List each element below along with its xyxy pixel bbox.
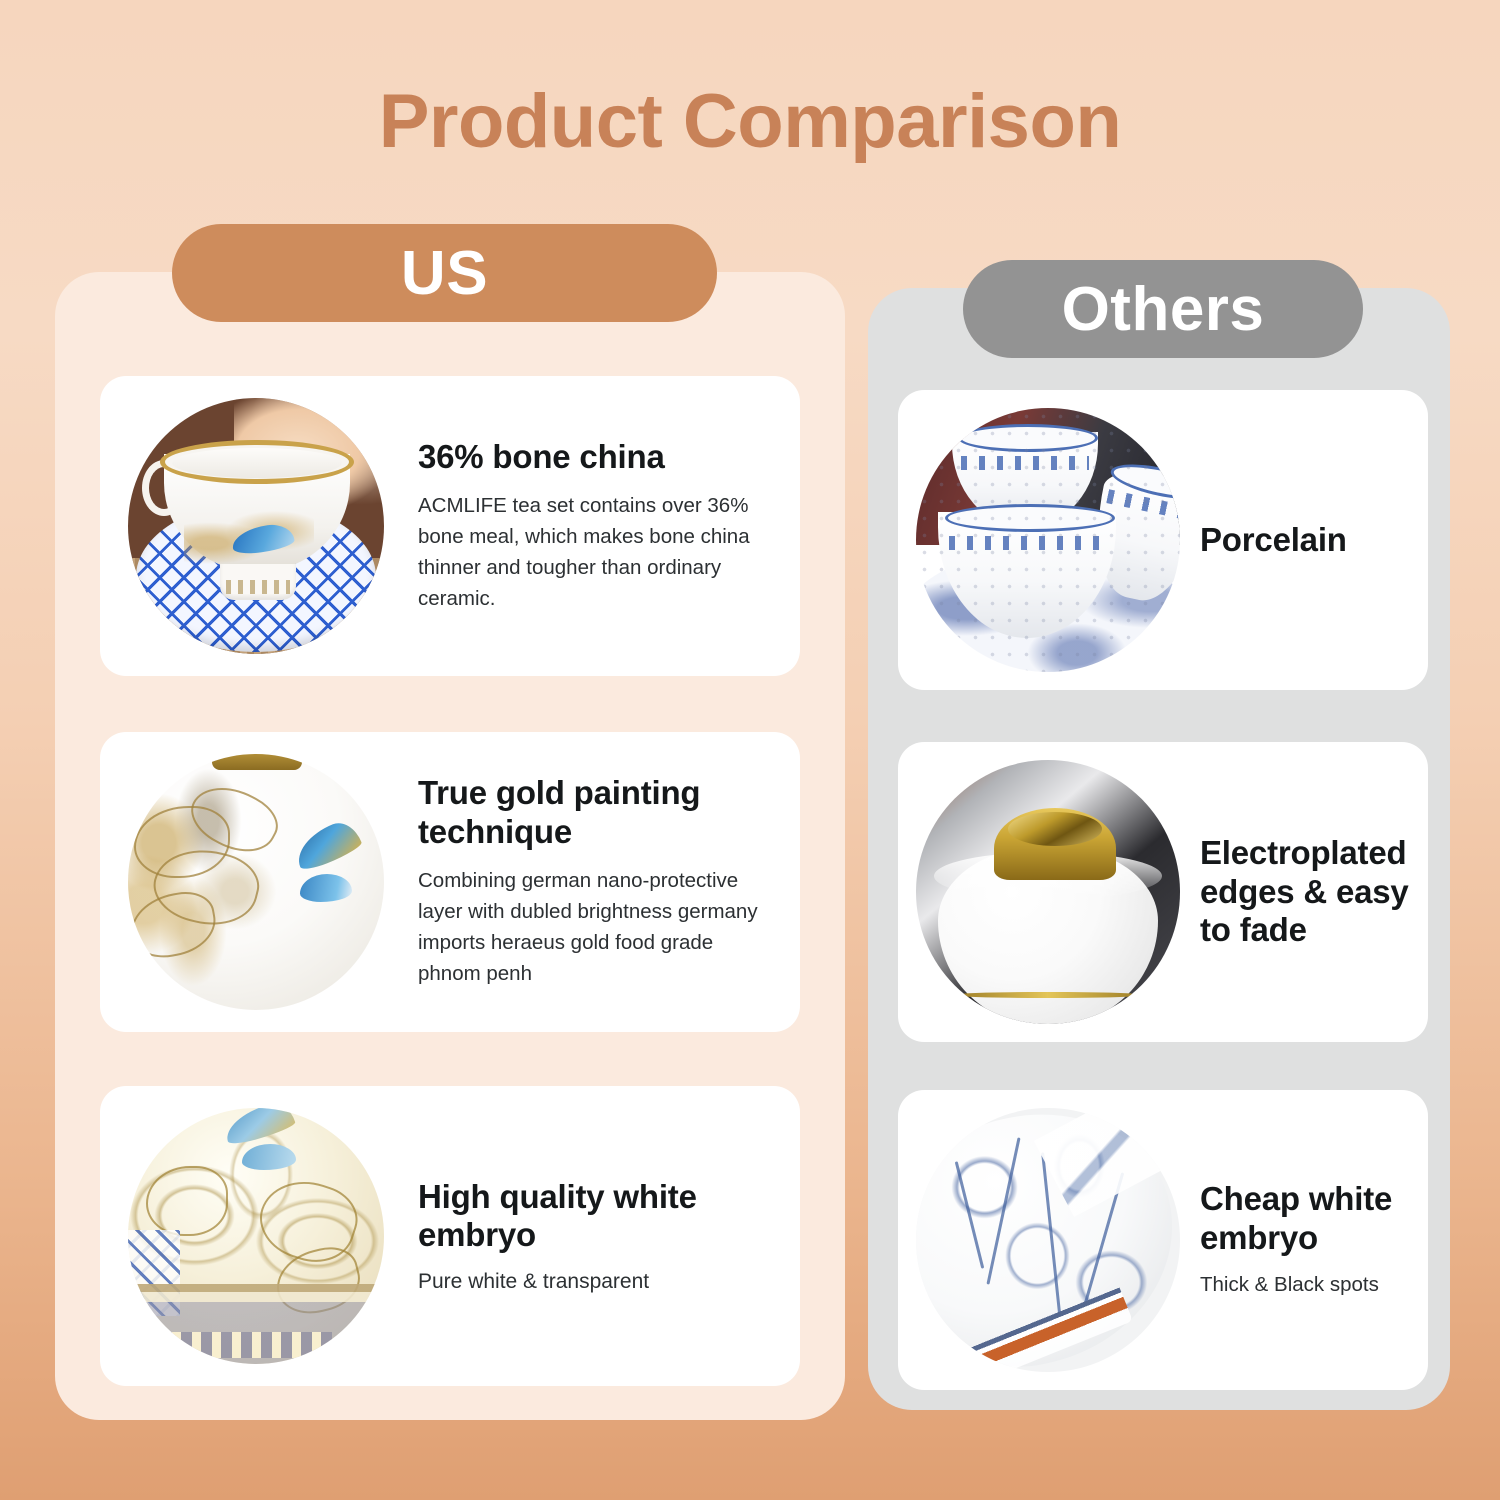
- others-feature-card: Porcelain: [898, 390, 1428, 690]
- white-embryo-cup-photo: [128, 1108, 384, 1364]
- cheap-blue-floral-bowl-photo: [916, 1108, 1180, 1372]
- others-card-body: Thick & Black spots: [1200, 1270, 1414, 1301]
- others-card-text: Cheap white embryo Thick & Black spots: [1180, 1180, 1428, 1301]
- us-feature-card: High quality white embryo Pure white & t…: [100, 1086, 800, 1386]
- others-feature-card: Electroplated edges & easy to fade: [898, 742, 1428, 1042]
- others-card-text: Porcelain: [1180, 521, 1428, 560]
- us-badge: US: [172, 224, 717, 322]
- electroplated-gold-lid-jar-photo: [916, 760, 1180, 1024]
- us-card-body: Combining german nano-protective layer w…: [418, 865, 780, 990]
- us-feature-card: 36% bone china ACMLIFE tea set contains …: [100, 376, 800, 676]
- us-card-text: True gold painting technique Combining g…: [384, 774, 800, 989]
- us-card-body: Pure white & transparent: [418, 1270, 780, 1294]
- blue-white-porcelain-bowls-photo: [916, 408, 1180, 672]
- others-card-heading: Electroplated edges & easy to fade: [1200, 834, 1414, 951]
- us-card-heading: High quality white embryo: [418, 1178, 780, 1255]
- us-card-text: 36% bone china ACMLIFE tea set contains …: [384, 438, 800, 615]
- others-badge: Others: [963, 260, 1363, 358]
- gold-painted-porcelain-photo: [128, 754, 384, 1010]
- others-card-text: Electroplated edges & easy to fade: [1180, 834, 1428, 951]
- bone-china-teacup-photo: [128, 398, 384, 654]
- us-card-body: ACMLIFE tea set contains over 36% bone m…: [418, 490, 780, 615]
- us-card-heading: True gold painting technique: [418, 774, 780, 851]
- others-card-heading: Porcelain: [1200, 521, 1347, 560]
- page-title: Product Comparison: [0, 78, 1500, 165]
- others-card-heading: Cheap white embryo: [1200, 1180, 1414, 1258]
- us-card-text: High quality white embryo Pure white & t…: [384, 1178, 800, 1295]
- product-comparison-page: Product Comparison US Others 36% bone ch…: [0, 0, 1500, 1500]
- others-feature-card: Cheap white embryo Thick & Black spots: [898, 1090, 1428, 1390]
- us-feature-card: True gold painting technique Combining g…: [100, 732, 800, 1032]
- us-card-heading: 36% bone china: [418, 438, 780, 476]
